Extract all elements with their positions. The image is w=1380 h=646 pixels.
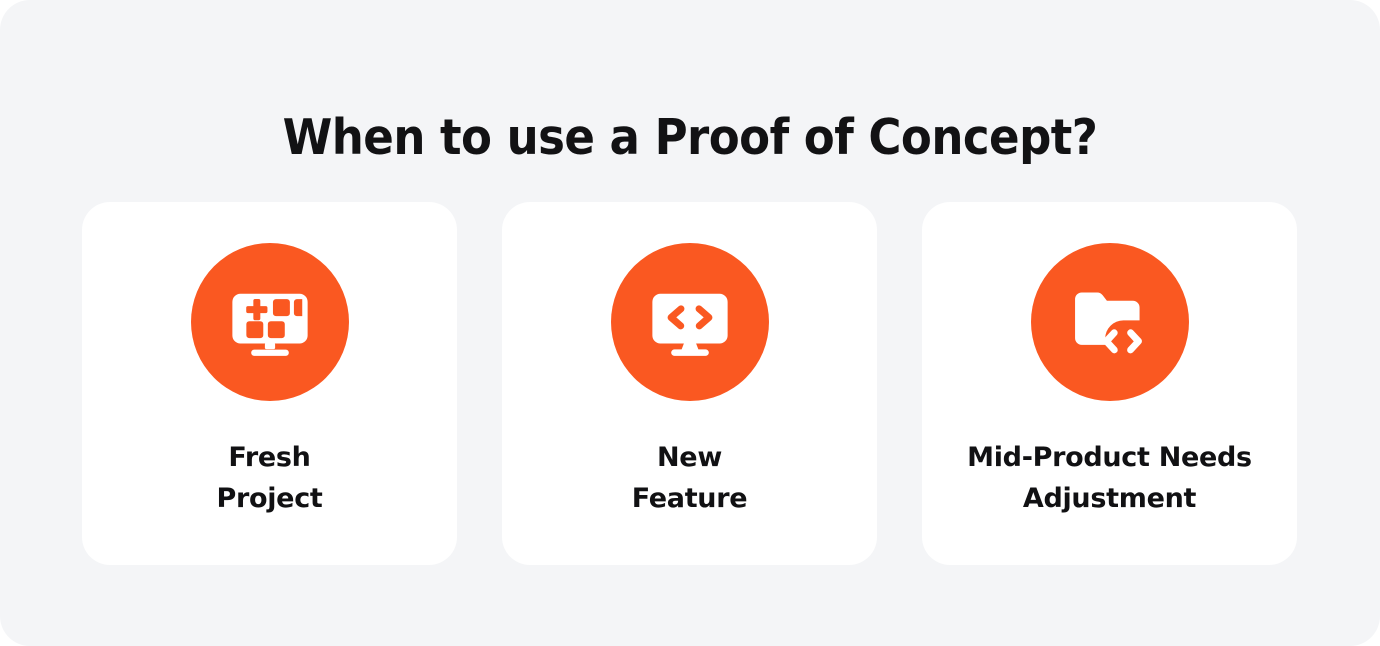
card-new-feature[interactable]: New Feature [502, 202, 877, 565]
page-title: When to use a Proof of Concept? [55, 111, 1325, 165]
card-label: Mid-Product Needs Adjustment [953, 437, 1266, 519]
icon-circle [191, 243, 349, 401]
cards-row: Fresh Project New Feature [82, 202, 1297, 565]
monitor-code-icon [647, 279, 733, 365]
icon-circle [1031, 243, 1189, 401]
card-label: New Feature [618, 437, 762, 519]
infographic-canvas: When to use a Proof of Concept? Fresh Pr… [0, 0, 1380, 646]
card-fresh-project[interactable]: Fresh Project [82, 202, 457, 565]
folder-code-icon [1067, 279, 1153, 365]
monitor-add-grid-icon [227, 279, 313, 365]
card-label: Fresh Project [202, 437, 336, 519]
card-mid-product-adjustment[interactable]: Mid-Product Needs Adjustment [922, 202, 1297, 565]
icon-circle [611, 243, 769, 401]
